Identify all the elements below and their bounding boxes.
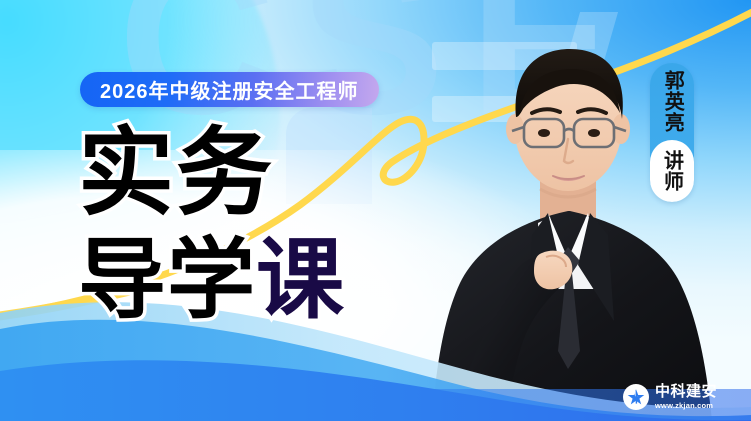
teacher-role-pill: 讲师 bbox=[650, 140, 694, 202]
brand-text-group: 中科建安 www.zkjan.com bbox=[655, 384, 717, 410]
brand-logo-icon bbox=[623, 384, 649, 410]
course-poster: CSE bbox=[0, 0, 751, 421]
teacher-role: 讲师 bbox=[658, 150, 687, 192]
headline-secondary: 导学课 bbox=[78, 238, 345, 322]
teacher-badge[interactable]: 郭英亮 讲师 bbox=[650, 63, 694, 202]
course-title-badge[interactable]: 2026年中级注册安全工程师 bbox=[80, 72, 379, 107]
star-arrow-circle-icon bbox=[624, 385, 648, 409]
brand-bar[interactable]: 中科建安 www.zkjan.com bbox=[613, 373, 751, 421]
teacher-name: 郭英亮 bbox=[661, 70, 683, 136]
brand-url: www.zkjan.com bbox=[655, 402, 717, 410]
headline-secondary-black: 导学 bbox=[78, 230, 256, 329]
headline-primary: 实务 bbox=[78, 128, 274, 220]
headline-secondary-navy: 课 bbox=[256, 230, 345, 329]
brand-name: 中科建安 bbox=[655, 384, 717, 399]
